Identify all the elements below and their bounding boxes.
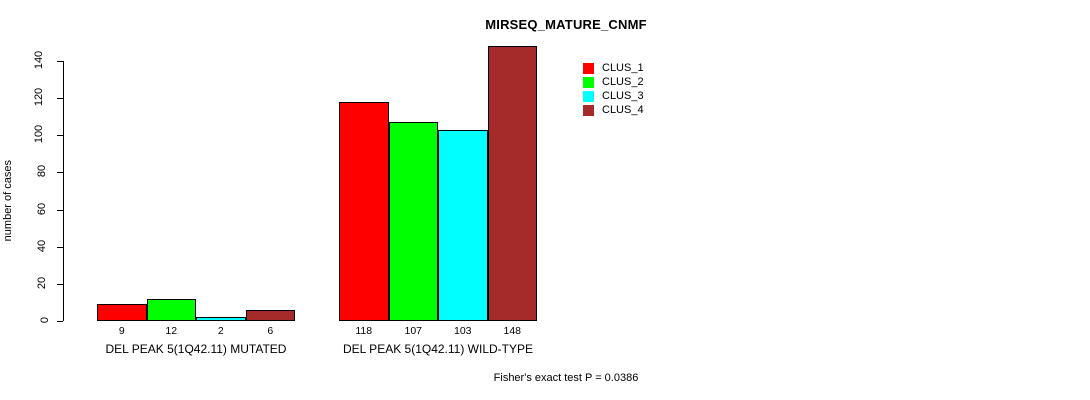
bar-clus_3-group1	[196, 317, 246, 321]
bar-value-label: 9	[97, 325, 147, 337]
bar-clus_4-group1	[246, 310, 296, 321]
statistical-test-annotation: Fisher's exact test P = 0.0386	[21, 372, 1090, 384]
legend-color-swatch-icon	[583, 91, 594, 102]
legend-color-swatch-icon	[583, 63, 594, 74]
bar-value-label: 12	[147, 325, 197, 337]
bar-clus_2-group2	[389, 122, 439, 321]
legend-color-swatch-icon	[583, 77, 594, 88]
bar-value-label: 2	[196, 325, 246, 337]
bar-chart-figure: MIRSEQ_MATURE_CNMF number of cases 02040…	[0, 0, 1090, 400]
bar-clus_2-group1	[147, 299, 197, 321]
legend-color-swatch-icon	[583, 105, 594, 116]
legend-item-label: CLUS_4	[602, 103, 644, 117]
bar-clus_4-group2	[488, 46, 538, 321]
bar-value-label: 103	[438, 325, 488, 337]
plot-area: 91226DEL PEAK 5(1Q42.11) MUTATED11810710…	[0, 0, 1090, 400]
group-axis-label: DEL PEAK 5(1Q42.11) MUTATED	[97, 342, 295, 356]
bar-clus_1-group2	[339, 102, 389, 321]
bar-value-label: 118	[339, 325, 389, 337]
legend-item-label: CLUS_2	[602, 75, 644, 89]
bar-clus_3-group2	[438, 130, 488, 321]
legend-item-label: CLUS_3	[602, 89, 644, 103]
bar-clus_1-group1	[97, 304, 147, 321]
group-axis-label: DEL PEAK 5(1Q42.11) WILD-TYPE	[339, 342, 537, 356]
bar-value-label: 6	[246, 325, 296, 337]
bar-value-label: 148	[488, 325, 538, 337]
bar-value-label: 107	[389, 325, 439, 337]
legend-item-label: CLUS_1	[602, 61, 644, 75]
